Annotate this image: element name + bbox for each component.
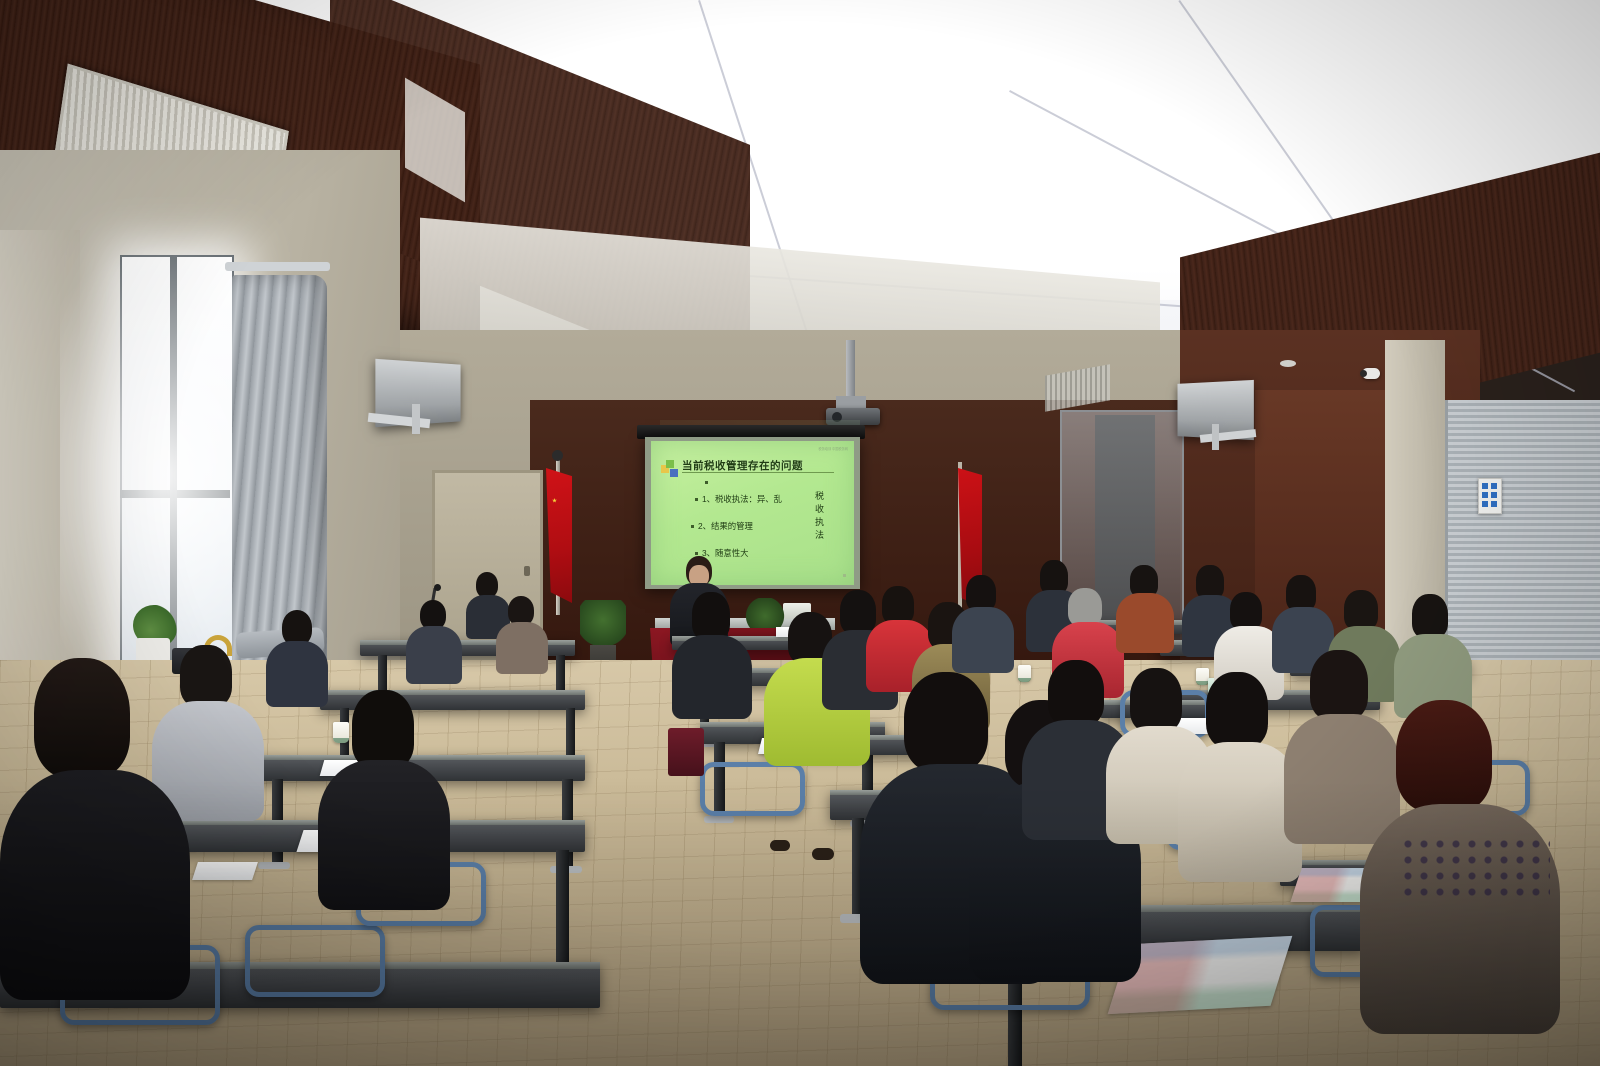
handbag — [668, 728, 704, 776]
smoke-detector-icon — [1280, 360, 1296, 367]
slide-bullet-2-text: 2、结果的管理 — [698, 521, 753, 531]
microphone-head-icon — [434, 584, 441, 591]
camera-lens-icon — [1360, 370, 1367, 377]
speaker-post — [412, 404, 420, 434]
slide-logo: 税务培训 中国税务网 — [818, 447, 848, 451]
paper-cup — [1018, 665, 1031, 682]
curtain-rod — [225, 262, 330, 271]
paper-cup — [333, 722, 349, 743]
meeting-room-photo: 税务培训 中国税务网 当前税收管理存在的问题 1、税收执法：异、乱 2、结果的管… — [0, 0, 1600, 1066]
potted-plant — [580, 600, 626, 650]
slide-corner-mark — [843, 574, 846, 577]
slide-vertical-text: 税收执法 — [813, 490, 826, 542]
chair[interactable] — [700, 762, 805, 816]
shoe — [770, 840, 790, 851]
paper-notes — [192, 862, 258, 880]
desk-foot — [258, 862, 290, 869]
desk-leg — [556, 850, 569, 966]
flag-pole-cap — [552, 450, 563, 461]
speaker-post — [1212, 424, 1219, 450]
slide-accent-icon — [661, 460, 678, 477]
projector-mount-pole — [846, 340, 855, 402]
projection-screen: 税务培训 中国税务网 当前税收管理存在的问题 1、税收执法：异、乱 2、结果的管… — [651, 441, 854, 585]
shoe — [812, 848, 834, 860]
slide-bullet-3-text: 3、随意性大 — [702, 548, 749, 558]
slide-title-underline — [682, 472, 834, 473]
slide-bullet-2: 2、结果的管理 — [691, 520, 753, 532]
desk-foot — [704, 816, 734, 823]
potted-plant — [745, 598, 785, 628]
slide-title: 当前税收管理存在的问题 — [682, 458, 803, 473]
slide-bullet-marker — [705, 481, 708, 484]
slide-bullet-1: 1、税收执法：异、乱 — [695, 493, 782, 505]
leopard-scarf — [1400, 836, 1550, 896]
wall-control-panel[interactable] — [1478, 478, 1502, 514]
chair[interactable] — [245, 925, 385, 997]
slide-bullet-1-text: 1、税收执法：异、乱 — [702, 494, 782, 504]
door-handle-icon[interactable] — [524, 566, 530, 576]
